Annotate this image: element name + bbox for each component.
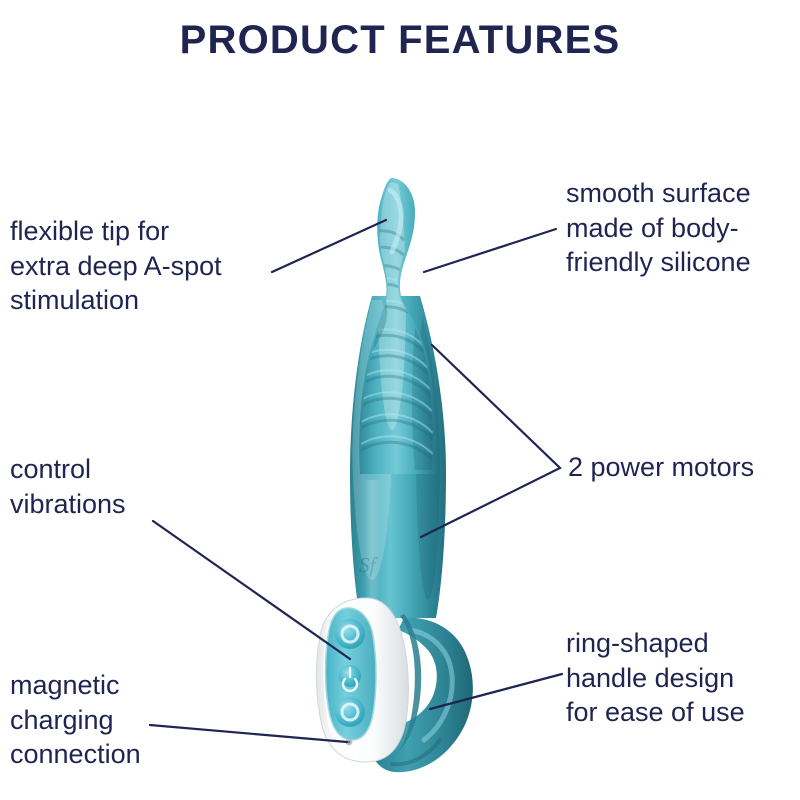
shell-edge (398, 614, 421, 752)
callout-smooth-surface: smooth surface made of body- friendly si… (566, 176, 800, 280)
page-title: PRODUCT FEATURES (0, 18, 800, 63)
product-shaft (350, 280, 446, 618)
ring-handle (372, 618, 473, 772)
leader-line-ring (430, 674, 562, 709)
callout-power-motors: 2 power motors (568, 450, 800, 485)
control-panel (316, 598, 408, 762)
callout-control-vibrations: control vibrations (10, 452, 230, 521)
intensity-up-button[interactable] (335, 619, 365, 649)
magnetic-charging-contact (346, 739, 353, 746)
product-tip (348, 170, 438, 510)
power-button[interactable] (339, 665, 361, 691)
leader-line-motors (421, 345, 560, 537)
button-strip (326, 608, 376, 740)
callout-flexible-tip: flexible tip for extra deep A-spot stimu… (10, 214, 300, 318)
svg-text:Sf: Sf (359, 553, 379, 577)
leader-line-control (153, 521, 350, 659)
brand-logo-mark: Sf (359, 553, 379, 577)
callout-magnetic-charging: magnetic charging connection (10, 668, 240, 772)
callout-ring-handle: ring-shaped handle design for ease of us… (566, 626, 800, 730)
feature-diagram: PRODUCT FEATURES (0, 0, 800, 800)
intensity-down-button[interactable] (335, 697, 365, 727)
leader-line-surface (424, 229, 556, 272)
